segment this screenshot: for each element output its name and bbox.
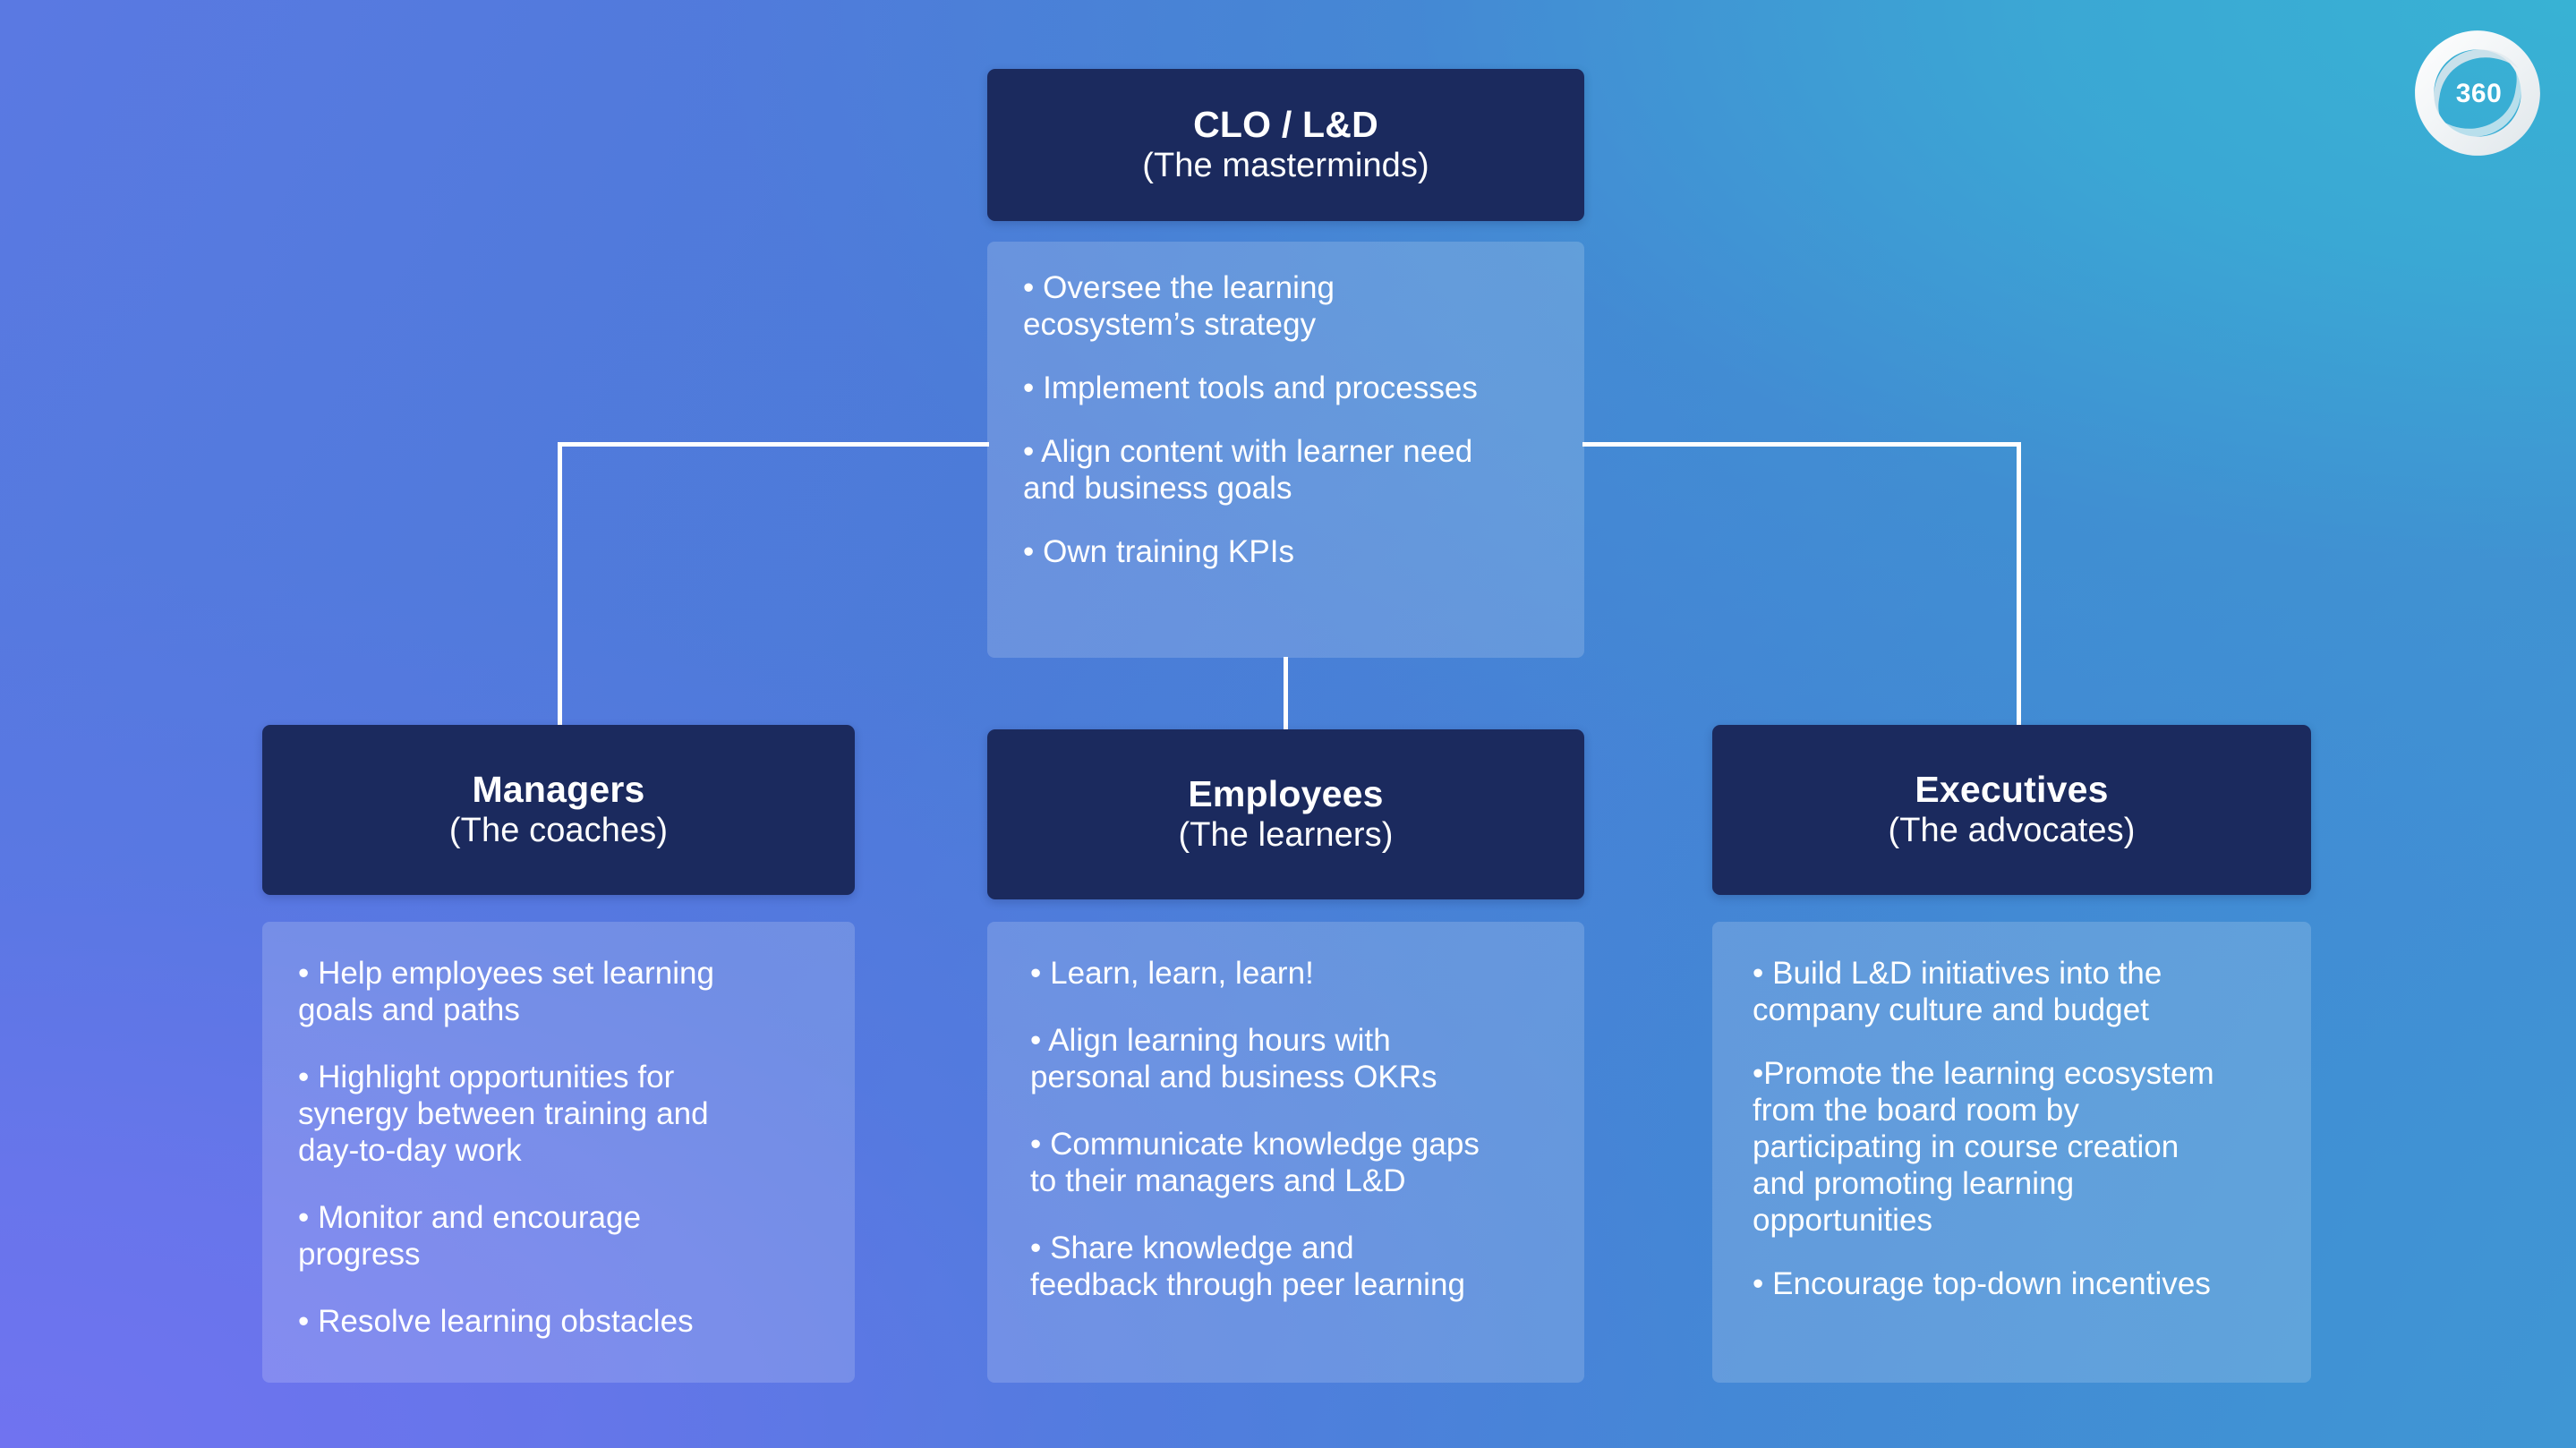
node-clo-header[interactable]: CLO / L&D (The masterminds) [987,69,1584,221]
node-executives-title: Executives [1915,768,2108,811]
node-managers-body: • Help employees set learning goals and … [262,922,855,1383]
list-item: • Help employees set learning goals and … [298,956,819,1029]
list-item: • Implement tools and processes [1023,371,1548,407]
node-executives[interactable]: Executives (The advocates) • Build L&D i… [1712,725,2311,1383]
node-executives-subtitle: (The advocates) [1888,811,2135,852]
list-item: • Oversee the learning ecosystem’s strat… [1023,270,1548,344]
list-item: • Encourage top-down incentives [1753,1266,2275,1303]
list-item: • Align learning hours with personal and… [1030,1023,1548,1096]
node-managers-title: Managers [472,768,644,811]
node-executives-header[interactable]: Executives (The advocates) [1712,725,2311,895]
360-logo[interactable]: 360 [2410,25,2546,161]
org-diagram-slide: 360 CLO / L&D (The masterminds) • Overse… [0,0,2576,1448]
node-employees-subtitle: (The learners) [1178,815,1393,856]
list-item: • Align content with learner need and bu… [1023,434,1548,507]
list-item: • Resolve learning obstacles [298,1304,819,1341]
node-employees[interactable]: Employees (The learners) • Learn, learn,… [987,729,1584,1383]
connector-vertical-employees [1284,657,1288,732]
node-employees-header[interactable]: Employees (The learners) [987,729,1584,899]
node-executives-body: • Build L&D initiatives into the company… [1712,922,2311,1383]
node-clo-body: • Oversee the learning ecosystem’s strat… [987,242,1584,658]
list-item: • Build L&D initiatives into the company… [1753,956,2275,1029]
connector-vertical-executives [2017,442,2021,727]
list-item: • Learn, learn, learn! [1030,956,1548,992]
node-clo[interactable]: CLO / L&D (The masterminds) • Oversee th… [987,69,1584,658]
logo-label: 360 [2410,25,2546,161]
list-item: • Own training KPIs [1023,534,1548,571]
connector-horizontal-left [558,442,989,447]
list-item: • Monitor and encourage progress [298,1200,819,1273]
connector-vertical-managers [558,442,562,727]
node-managers-subtitle: (The coaches) [449,811,668,852]
list-item: • Communicate knowledge gaps to their ma… [1030,1127,1548,1200]
node-employees-body: • Learn, learn, learn! • Align learning … [987,922,1584,1383]
list-item: • Share knowledge and feedback through p… [1030,1231,1548,1304]
node-clo-title: CLO / L&D [1193,103,1378,146]
node-clo-subtitle: (The masterminds) [1142,146,1429,187]
node-employees-title: Employees [1188,772,1383,815]
node-managers[interactable]: Managers (The coaches) • Help employees … [262,725,855,1383]
node-managers-header[interactable]: Managers (The coaches) [262,725,855,895]
list-item: • Highlight opportunities for synergy be… [298,1060,819,1170]
list-item: •Promote the learning ecosystem from the… [1753,1056,2275,1239]
connector-horizontal-right [1582,442,2021,447]
